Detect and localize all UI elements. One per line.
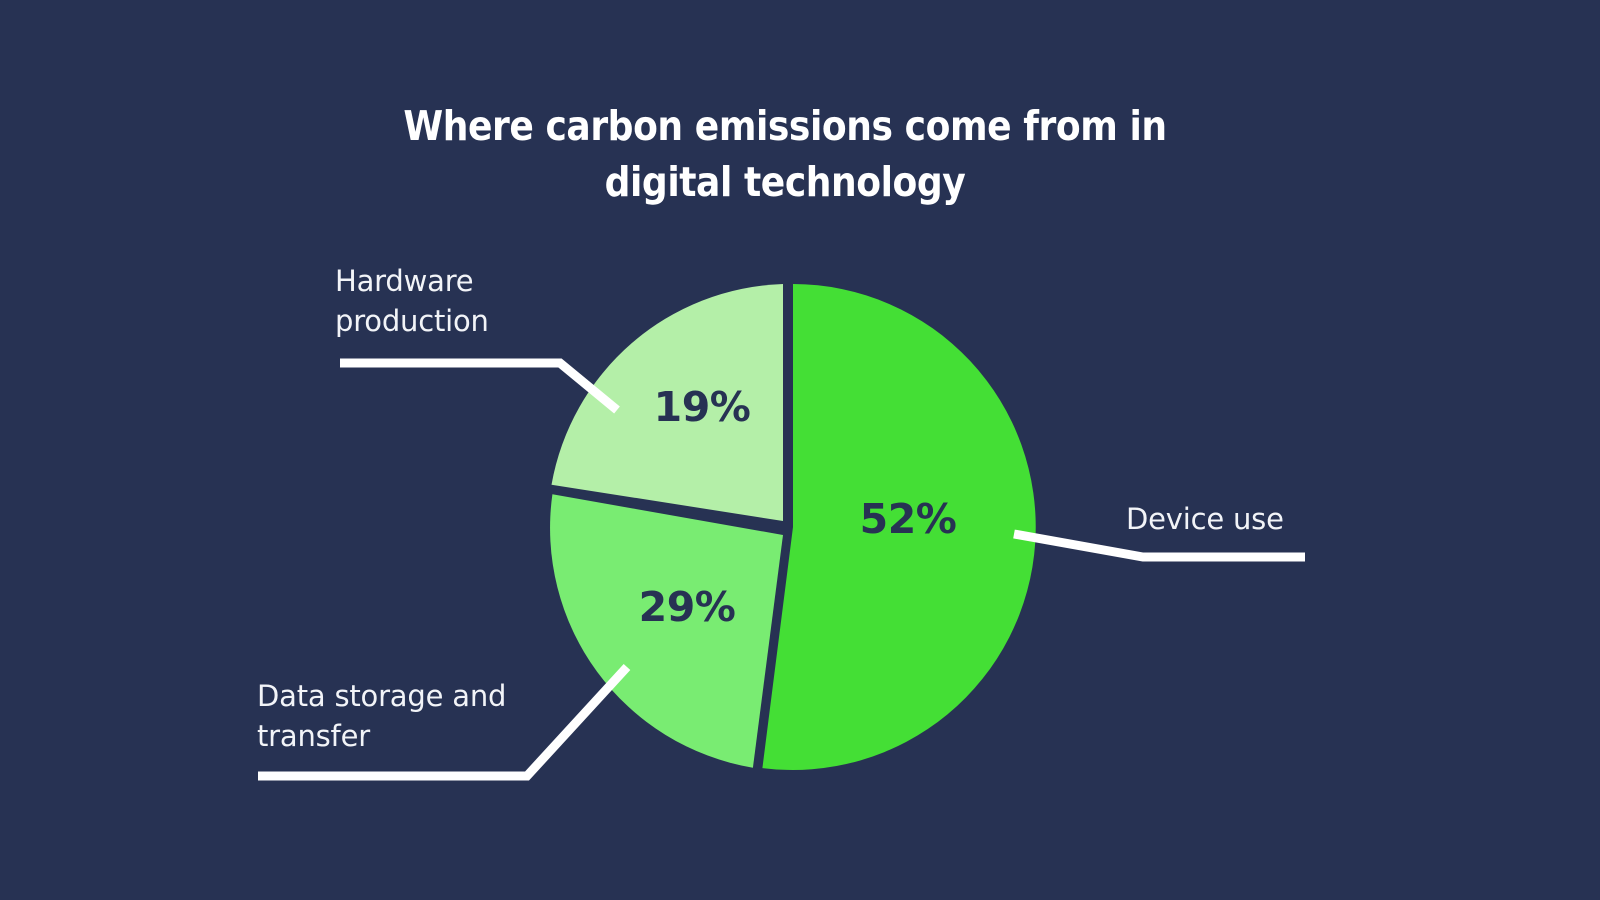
chart-canvas: Where carbon emissions come from in digi… xyxy=(0,0,1600,900)
slice-label-data-storage-and-transfer: Data storage and transfer xyxy=(257,676,597,756)
slice-label-hardware-production: Hardware production xyxy=(335,261,665,341)
slice-value-device-use: 52% xyxy=(843,496,973,542)
slice-value-hardware-production: 19% xyxy=(637,384,767,430)
pie-chart xyxy=(0,0,1600,900)
leader-line-hardware-production xyxy=(340,363,617,410)
slice-value-data-storage-and-transfer: 29% xyxy=(622,584,752,630)
slice-label-device-use: Device use xyxy=(1126,499,1386,539)
